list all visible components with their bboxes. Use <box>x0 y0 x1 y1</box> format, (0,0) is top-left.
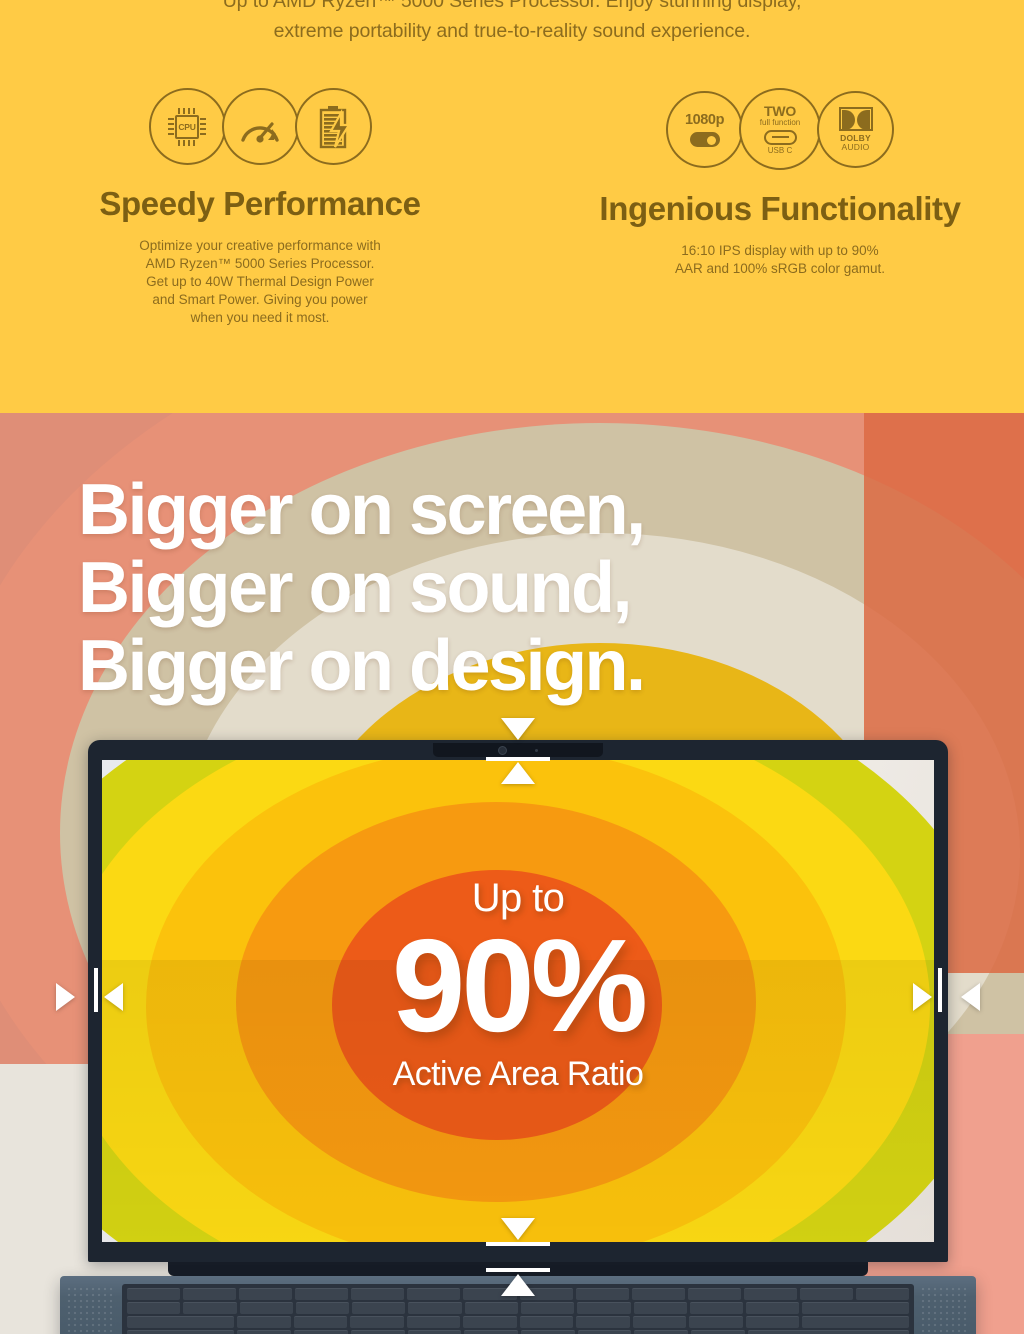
key <box>746 1316 800 1328</box>
title-line-2: Performance <box>223 185 420 222</box>
speaker-grille-left <box>66 1286 116 1334</box>
key <box>463 1316 517 1328</box>
key <box>183 1288 236 1300</box>
bezel-tick-bottom <box>486 1242 550 1246</box>
feature-column-ingenious-functionality: 1080p TWO full function USB C <box>512 88 1024 327</box>
hero-section: Bigger on screen, Bigger on sound, Bigge… <box>0 413 1024 1334</box>
feature-desc-ingenious-functionality: 16:10 IPS display with up to 90% AAR and… <box>675 242 885 278</box>
base-tick-top <box>486 1268 550 1272</box>
key <box>351 1330 405 1334</box>
key <box>521 1330 575 1334</box>
webcam-bar <box>433 743 603 757</box>
icon-row-functionality: 1080p TWO full function USB C <box>666 88 894 170</box>
desc-line-5: when you need it most. <box>139 309 381 327</box>
laptop-base <box>60 1262 976 1334</box>
key <box>576 1316 630 1328</box>
dolby-audio-icon: DOLBY AUDIO <box>817 91 894 168</box>
keyboard-row <box>127 1316 909 1328</box>
key <box>127 1302 180 1314</box>
bezel-tick-top <box>486 757 550 761</box>
usb-count-label: TWO <box>760 104 800 118</box>
headline-line-2: Bigger on sound, <box>78 549 644 627</box>
key <box>408 1330 462 1334</box>
keyboard-row <box>127 1330 909 1334</box>
stat-value: 90% <box>102 920 934 1052</box>
key <box>127 1330 234 1334</box>
bezel-marker-left-outer <box>56 983 75 1011</box>
key <box>350 1316 404 1328</box>
key <box>239 1288 292 1300</box>
key <box>407 1288 460 1300</box>
key <box>464 1330 518 1334</box>
privacy-shutter-glyph <box>690 132 720 147</box>
bezel-marker-right-inner <box>961 983 980 1011</box>
key <box>183 1302 236 1314</box>
key <box>127 1316 234 1328</box>
feature-title-speedy-performance: Speedy Performance <box>99 185 420 223</box>
laptop-lid: Up to 90% Active Area Ratio <box>88 740 948 1262</box>
key <box>294 1330 348 1334</box>
cpu-label: CPU <box>175 115 199 139</box>
headline-line-1: Bigger on screen, <box>78 471 644 549</box>
intro-paragraph: Up to AMD Ryzen™ 5000 Series Processor. … <box>0 0 1024 46</box>
key <box>800 1288 853 1300</box>
key <box>691 1330 745 1334</box>
usb-type-label: USB C <box>760 147 800 155</box>
bezel-marker-top-outer <box>501 718 535 740</box>
key <box>746 1302 799 1314</box>
hero-headline: Bigger on screen, Bigger on sound, Bigge… <box>78 471 644 705</box>
title-line-1: Ingenious <box>599 190 751 227</box>
dolby-brand-label: DOLBY <box>839 134 873 143</box>
desc-line-1: Optimize your creative performance with <box>139 237 381 255</box>
keyboard-row <box>127 1302 909 1314</box>
feature-columns: CPU <box>0 88 1024 327</box>
key <box>295 1288 348 1300</box>
bezel-marker-top-inner <box>501 762 535 784</box>
desc-line-2: AMD Ryzen™ 5000 Series Processor. <box>139 255 381 273</box>
intro-line-1: Up to AMD Ryzen™ 5000 Series Processor. … <box>0 0 1024 16</box>
key <box>802 1302 909 1314</box>
desc-line-3: Get up to 40W Thermal Design Power <box>139 273 381 291</box>
bezel-tick-right <box>938 968 942 1012</box>
title-line-1: Speedy <box>99 185 214 222</box>
key <box>352 1302 405 1314</box>
webcam-indicator-dot <box>535 749 538 752</box>
key <box>576 1288 629 1300</box>
key <box>296 1302 349 1314</box>
usb-port-glyph <box>764 130 797 145</box>
usb-c-icon: TWO full function USB C <box>739 88 821 170</box>
key <box>634 1330 688 1334</box>
cpu-chip-icon: CPU <box>149 88 226 165</box>
speaker-grille-right <box>920 1286 970 1334</box>
webcam-resolution-label: 1080p <box>685 112 724 128</box>
key <box>802 1316 909 1328</box>
screen-stat-block: Up to 90% Active Area Ratio <box>102 876 934 1094</box>
key <box>690 1302 743 1314</box>
key <box>578 1330 632 1334</box>
laptop-screen: Up to 90% Active Area Ratio <box>102 760 934 1242</box>
bezel-tick-left <box>94 968 98 1012</box>
key <box>351 1288 404 1300</box>
feature-column-speedy-performance: CPU <box>0 88 512 327</box>
desc-line-2: AAR and 100% sRGB color gamut. <box>675 260 885 278</box>
bezel-marker-bottom-outer <box>501 1274 535 1296</box>
key <box>633 1316 687 1328</box>
key <box>856 1288 909 1300</box>
laptop-illustration: Up to 90% Active Area Ratio <box>88 740 948 1334</box>
key <box>127 1288 180 1300</box>
key <box>240 1302 293 1314</box>
key <box>237 1330 291 1334</box>
feature-title-ingenious-functionality: Ingenious Functionality <box>599 190 960 228</box>
webcam-lens-icon <box>498 746 507 755</box>
stat-caption: Active Area Ratio <box>102 1054 934 1094</box>
key <box>465 1302 518 1314</box>
key <box>744 1288 797 1300</box>
webcam-1080p-icon: 1080p <box>666 91 743 168</box>
dolby-double-d-glyph <box>839 107 873 131</box>
key <box>237 1316 291 1328</box>
bezel-marker-bottom-inner <box>501 1218 535 1240</box>
bezel-marker-left-inner <box>104 983 123 1011</box>
speedometer-icon <box>222 88 299 165</box>
icon-row-performance: CPU <box>149 88 372 165</box>
key <box>520 1316 574 1328</box>
headline-line-3: Bigger on design. <box>78 627 644 705</box>
feature-desc-speedy-performance: Optimize your creative performance with … <box>139 237 381 327</box>
desc-line-1: 16:10 IPS display with up to 90% <box>675 242 885 260</box>
key <box>748 1330 909 1334</box>
key <box>632 1288 685 1300</box>
key <box>634 1302 687 1314</box>
title-line-2: Functionality <box>760 190 960 227</box>
key <box>408 1302 461 1314</box>
intro-line-2: extreme portability and true-to-reality … <box>0 16 1024 46</box>
battery-bolt-icon <box>295 88 372 165</box>
key <box>577 1302 630 1314</box>
bezel-marker-right-outer <box>913 983 932 1011</box>
key <box>688 1288 741 1300</box>
dolby-audio-label: AUDIO <box>839 143 873 152</box>
features-section: Up to AMD Ryzen™ 5000 Series Processor. … <box>0 0 1024 413</box>
desc-line-4: and Smart Power. Giving you power <box>139 291 381 309</box>
usb-function-label: full function <box>760 119 800 127</box>
product-page: Up to AMD Ryzen™ 5000 Series Processor. … <box>0 0 1024 1334</box>
key <box>689 1316 743 1328</box>
key <box>294 1316 348 1328</box>
key <box>521 1302 574 1314</box>
key <box>407 1316 461 1328</box>
